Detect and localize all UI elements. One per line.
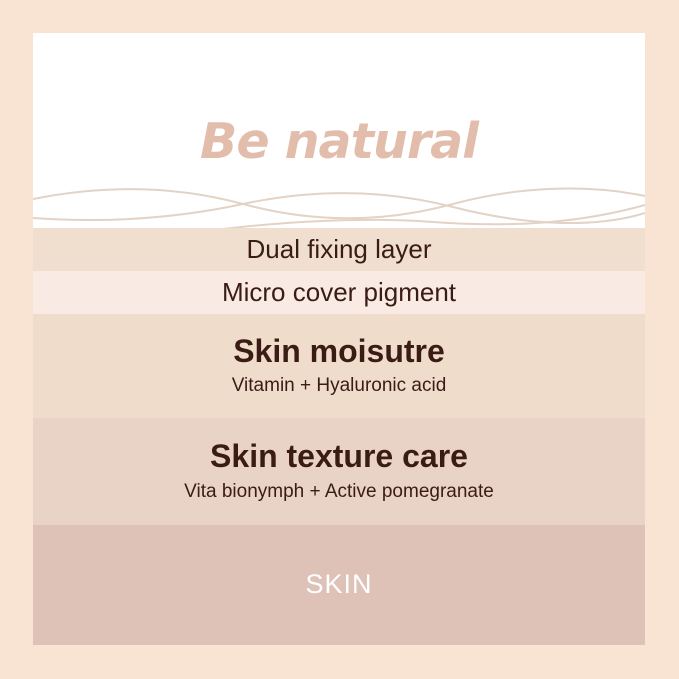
band-title: Micro cover pigment (222, 278, 456, 306)
band-title: Skin moisutre (233, 334, 445, 369)
band-title: Dual fixing layer (247, 235, 432, 263)
product-infographic-poster: Be natural Dual fixing layer Micro cover… (0, 0, 679, 679)
feature-band-micro-cover-pigment: Micro cover pigment (33, 271, 645, 314)
band-subtitle: Vita bionymph + Active pomegranate (184, 481, 494, 504)
band-subtitle: Vitamin + Hyaluronic acid (232, 375, 447, 398)
poster-header: Be natural (33, 33, 645, 228)
band-title: Skin texture care (210, 439, 468, 474)
feature-band-skin-moisture: Skin moisutre Vitamin + Hyaluronic acid (33, 314, 645, 418)
poster-card: Be natural Dual fixing layer Micro cover… (33, 33, 645, 645)
page-title: Be natural (33, 117, 645, 166)
feature-band-dual-fixing-layer: Dual fixing layer (33, 228, 645, 271)
feature-band-skin-texture-care: Skin texture care Vita bionymph + Active… (33, 418, 645, 525)
feature-band-skin: SKIN (33, 525, 645, 645)
wavy-lines-decoration (33, 183, 645, 228)
band-title: SKIN (305, 570, 372, 599)
